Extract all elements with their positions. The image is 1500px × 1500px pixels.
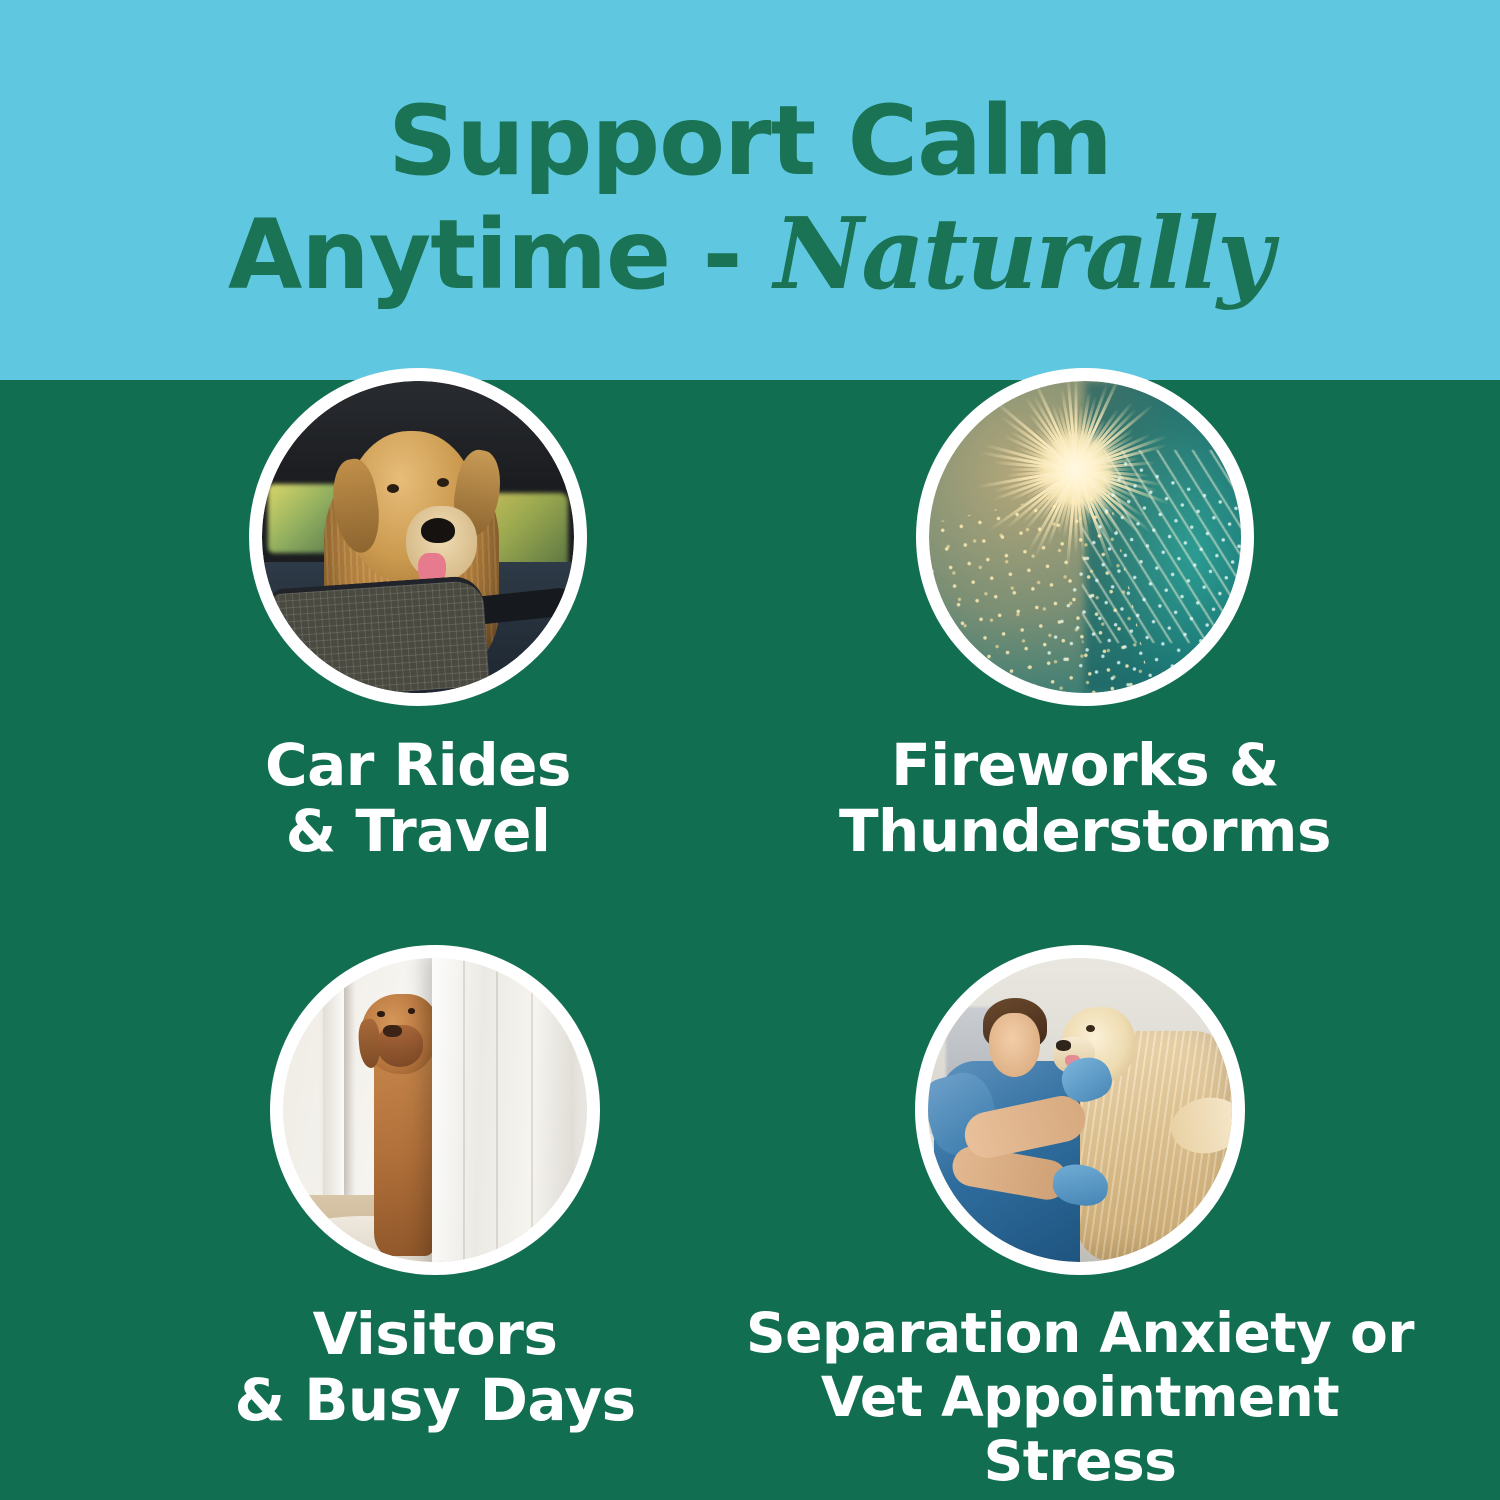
- vet-exam-illustration: [928, 958, 1232, 1262]
- benefit-card-separation-anxiety: Separation Anxiety or Vet Appointment St…: [745, 945, 1415, 1493]
- benefit-card-visitors: Visitors & Busy Days: [185, 945, 685, 1433]
- carrier-mesh: [271, 575, 490, 693]
- dog-nose: [1056, 1040, 1071, 1051]
- benefit-label-visitors: Visitors & Busy Days: [185, 1301, 685, 1433]
- white-door: [432, 958, 572, 1262]
- benefit-label-fireworks: Fireworks & Thunderstorms: [835, 732, 1335, 864]
- door-panel-line: [531, 958, 533, 1262]
- vet-face: [989, 1013, 1041, 1077]
- benefit-label-car-rides: Car Rides & Travel: [168, 732, 668, 864]
- door-panel-line: [496, 958, 498, 1262]
- dog-in-doorway-illustration: [283, 958, 587, 1262]
- title-line-2: Anytime - Naturally: [0, 198, 1500, 312]
- dog-in-car-seat-photo: [249, 368, 587, 706]
- photo-clip: [262, 381, 574, 693]
- benefit-card-grid: Car Rides & Travel Fireworks & Thunderst…: [0, 380, 1500, 1500]
- vet-exam-photo: [915, 945, 1245, 1275]
- fireworks-illustration: [929, 381, 1241, 693]
- product-infographic-banner: Support Calm Anytime - Naturally: [0, 0, 1500, 1500]
- benefit-card-car-rides: Car Rides & Travel: [168, 368, 668, 864]
- dog-in-car-illustration: [262, 381, 574, 693]
- benefit-card-fireworks: Fireworks & Thunderstorms: [835, 368, 1335, 864]
- door-jamb: [323, 958, 344, 1195]
- title-line-1: Support Calm: [0, 84, 1500, 198]
- dog-eye-right: [408, 1008, 415, 1013]
- fireworks-photo: [916, 368, 1254, 706]
- dog-eye-left: [377, 1011, 384, 1016]
- dog-nose: [421, 518, 455, 543]
- photo-clip: [929, 381, 1241, 693]
- page-title: Support Calm Anytime - Naturally: [0, 84, 1500, 312]
- title-line-2-script: Naturally: [774, 197, 1272, 312]
- door-panel-line: [463, 958, 465, 1262]
- photo-clip: [928, 958, 1232, 1262]
- photo-clip: [283, 958, 587, 1262]
- door-frame-shadow: [344, 958, 356, 1195]
- dog-nose: [383, 1025, 401, 1037]
- dog-in-doorway-photo: [270, 945, 600, 1275]
- benefit-label-separation-anxiety: Separation Anxiety or Vet Appointment St…: [745, 1301, 1415, 1493]
- title-line-2-plain: Anytime -: [228, 199, 774, 311]
